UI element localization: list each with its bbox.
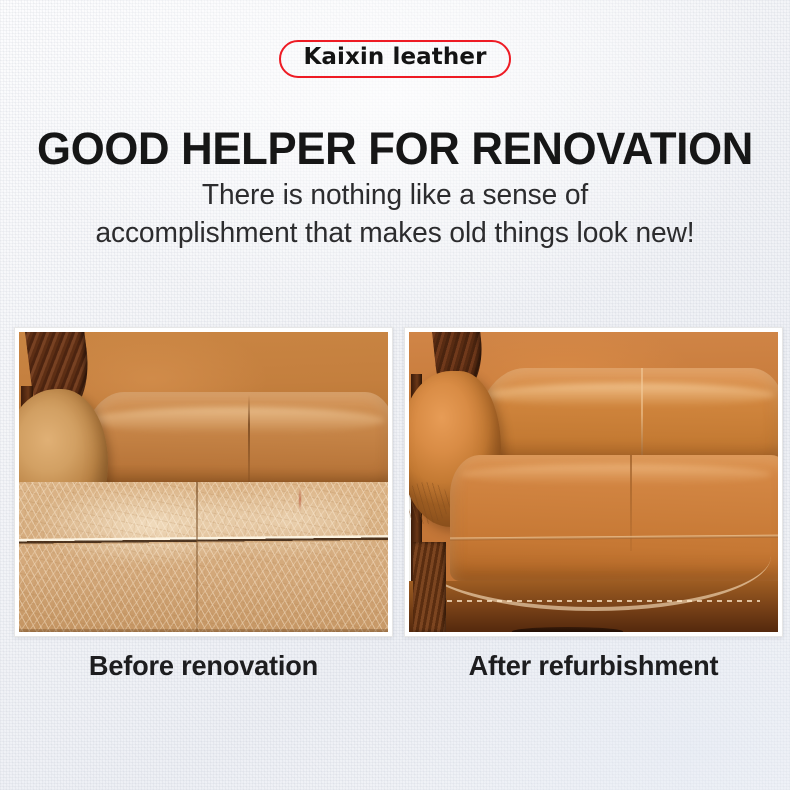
after-refurbishment-image xyxy=(409,332,778,632)
subtitle-line-2: accomplishment that makes old things loo… xyxy=(12,214,778,252)
leather-scuff-mark xyxy=(299,487,301,512)
subtitle-line-1: There is nothing like a sense of xyxy=(12,176,778,214)
page-title: GOOD HELPER FOR RENOVATION xyxy=(12,123,778,175)
seat-highlight xyxy=(461,464,771,485)
cracked-leather-texture xyxy=(19,482,388,632)
before-after-comparison xyxy=(0,327,790,639)
skirt-stitching xyxy=(427,600,759,602)
promo-banner-page: Kaixin leather GOOD HELPER FOR RENOVATIO… xyxy=(0,0,790,790)
brand-badge-row: Kaixin leather xyxy=(0,40,790,78)
back-cushion-seam xyxy=(248,395,250,494)
sofa-base-shadow xyxy=(19,629,388,632)
promo-content: Kaixin leather GOOD HELPER FOR RENOVATIO… xyxy=(0,0,790,790)
back-cushion-highlight xyxy=(486,383,774,407)
before-caption: Before renovation xyxy=(20,648,388,684)
before-photo-frame[interactable] xyxy=(14,327,393,637)
after-caption: After refurbishment xyxy=(410,648,778,684)
subtitle: There is nothing like a sense of accompl… xyxy=(12,176,778,252)
before-renovation-image xyxy=(19,332,388,632)
seat-cushion-divider xyxy=(196,482,198,632)
back-cushion-highlight xyxy=(89,407,384,434)
photo-captions: Before renovation After refurbishment xyxy=(0,648,790,692)
after-photo-frame[interactable] xyxy=(404,327,783,637)
skirt-shadow xyxy=(512,627,623,632)
sofa-seat-cushions xyxy=(19,482,388,632)
sofa-wood-leg xyxy=(413,542,446,632)
brand-badge: Kaixin leather xyxy=(279,40,510,78)
